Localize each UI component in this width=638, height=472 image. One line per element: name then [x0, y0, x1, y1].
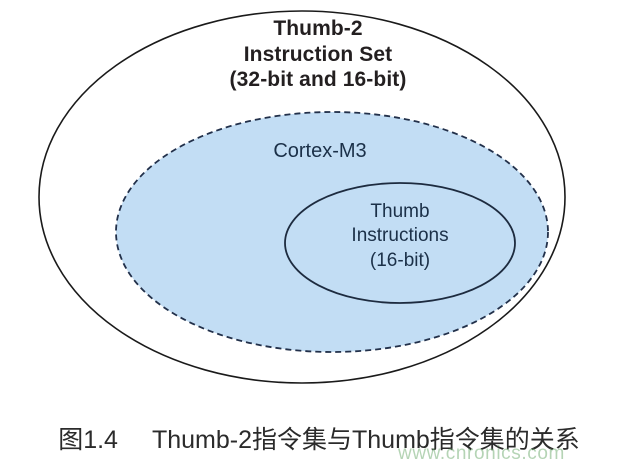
- venn-svg: [0, 0, 638, 400]
- figure-caption: 图1.4 Thumb-2指令集与Thumb指令集的关系: [0, 404, 638, 472]
- venn-diagram: Thumb-2 Instruction Set (32-bit and 16-b…: [0, 0, 638, 400]
- ellipse-thumb-instructions: [285, 183, 515, 303]
- figure-container: Thumb-2 Instruction Set (32-bit and 16-b…: [0, 0, 638, 472]
- caption-text: Thumb-2指令集与Thumb指令集的关系: [152, 420, 580, 456]
- caption-number: 图1.4: [58, 420, 118, 456]
